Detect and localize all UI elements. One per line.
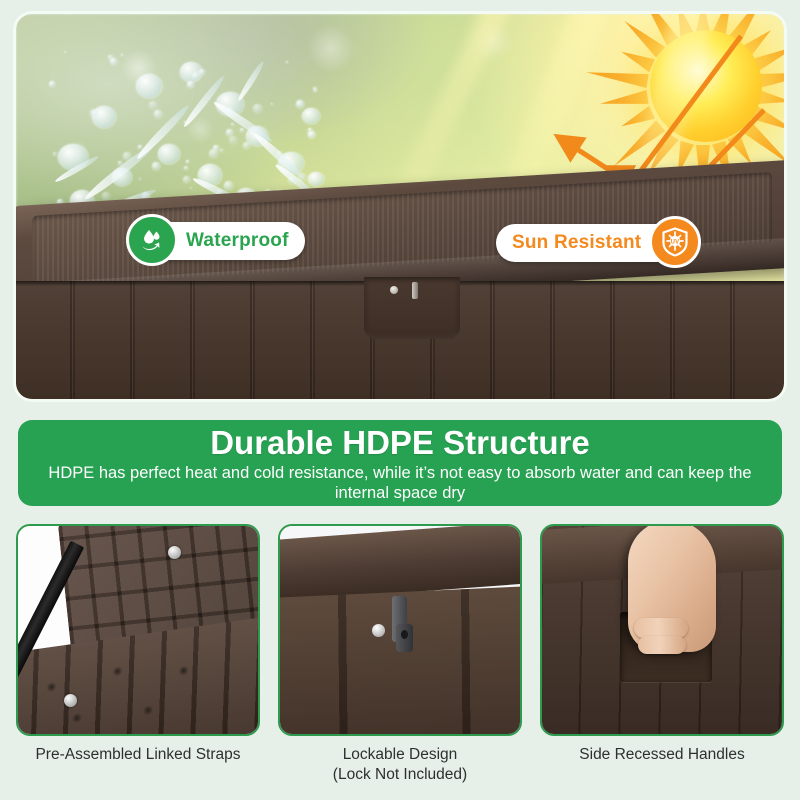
- feature-card-lock[interactable]: Lockable Design (Lock Not Included): [278, 524, 522, 785]
- banner-subtitle: HDPE has perfect heat and cold resistanc…: [18, 462, 782, 503]
- handle-photo: [540, 524, 784, 736]
- strap-bolt: [64, 694, 77, 707]
- uv-shield-icon: UV: [649, 216, 701, 268]
- badge-waterproof-label: Waterproof: [186, 230, 289, 252]
- caption-line-2: (Lock Not Included): [333, 766, 467, 783]
- hero-image: Waterproof Sun Resistant UV: [16, 14, 784, 399]
- lid-latch: [364, 277, 460, 339]
- strap-bolt: [168, 546, 181, 559]
- feature-caption-lock: Lockable Design (Lock Not Included): [278, 745, 522, 785]
- lock-hasp-loop: [396, 624, 413, 652]
- finger: [638, 636, 686, 654]
- feature-caption-handles: Side Recessed Handles: [540, 745, 784, 765]
- strap-photo: [16, 524, 260, 736]
- caption-line-1: Side Recessed Handles: [579, 746, 744, 763]
- hdpe-banner: Durable HDPE Structure HDPE has perfect …: [18, 420, 782, 506]
- caption-line-1: Lockable Design: [343, 746, 458, 763]
- badge-sun-resistant[interactable]: Sun Resistant UV: [496, 224, 689, 262]
- lock-photo: [278, 524, 522, 736]
- badge-sun-resistant-label: Sun Resistant: [512, 232, 641, 254]
- feature-thumbnail-row: Pre-Assembled Linked Straps Lockable Des…: [16, 524, 784, 785]
- water-drop-icon: [126, 214, 178, 266]
- latch-pin: [390, 286, 398, 294]
- finger: [634, 618, 688, 638]
- badge-waterproof[interactable]: Waterproof: [138, 222, 305, 260]
- banner-title: Durable HDPE Structure: [18, 424, 782, 462]
- lock-pin: [372, 624, 385, 637]
- feature-card-handles[interactable]: Side Recessed Handles: [540, 524, 784, 785]
- latch-hasp: [412, 282, 418, 299]
- feature-caption-straps: Pre-Assembled Linked Straps: [16, 745, 260, 765]
- caption-line-1: Pre-Assembled Linked Straps: [35, 746, 240, 763]
- feature-card-straps[interactable]: Pre-Assembled Linked Straps: [16, 524, 260, 785]
- svg-text:UV: UV: [671, 240, 680, 246]
- deck-box-body: [16, 281, 784, 399]
